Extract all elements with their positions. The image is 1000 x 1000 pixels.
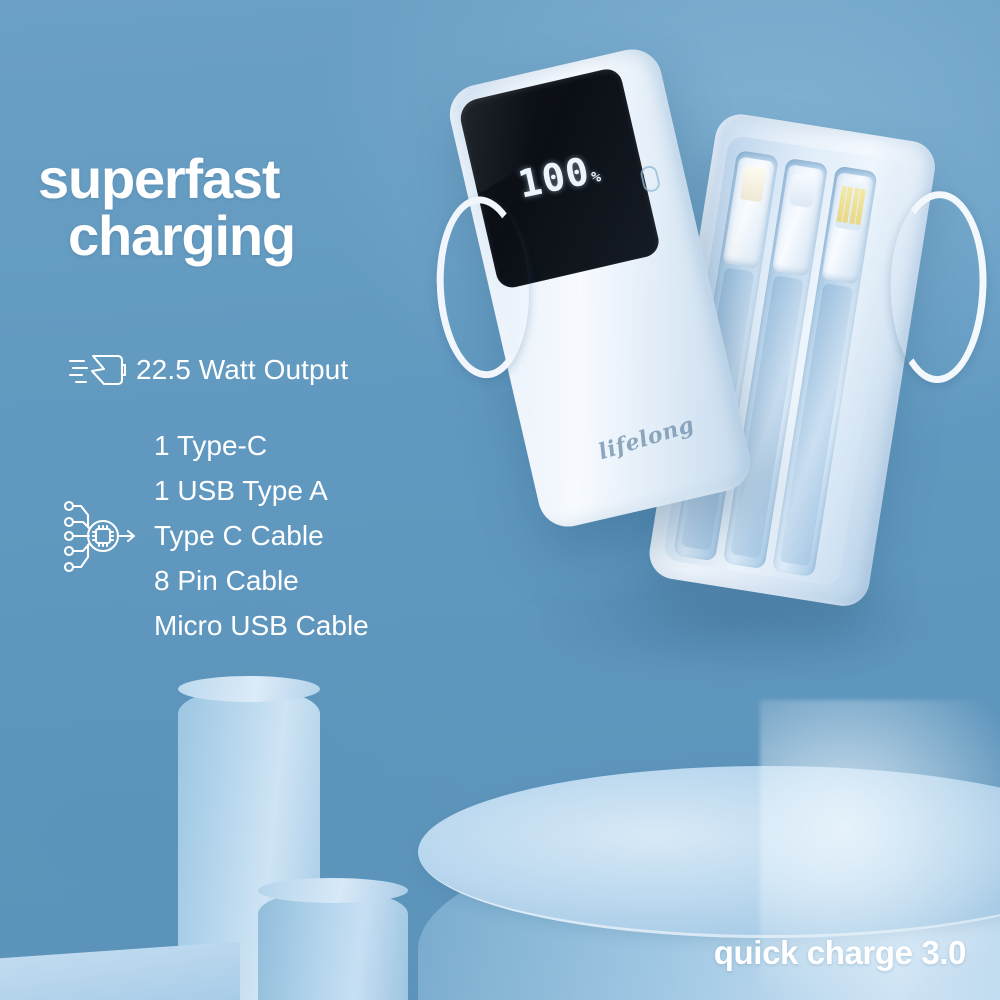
prop-tall-cylinder-top: [178, 676, 320, 702]
battery-percent-value: 100: [514, 149, 593, 207]
battery-readout: 100 %: [514, 147, 603, 207]
list-item: 8 Pin Cable: [154, 567, 369, 595]
lightning-connector-tip: [740, 165, 767, 202]
list-item: Type C Cable: [154, 522, 369, 550]
type-c-connector-tip: [789, 173, 818, 208]
list-item: Micro USB Cable: [154, 612, 369, 640]
feature-wattage-label: 22.5 Watt Output: [136, 356, 348, 384]
headline-line-2: charging: [68, 207, 295, 264]
chip-circuit-icon: [62, 497, 140, 575]
usb-a-contact-plate: [835, 180, 868, 231]
port-list: 1 Type-C 1 USB Type A Type C Cable 8 Pin…: [140, 432, 369, 640]
headline-line-1: superfast: [38, 147, 279, 210]
prop-short-cylinder-top: [258, 878, 408, 903]
type-c-connector: [772, 164, 824, 276]
list-item: 1 Type-C: [154, 432, 369, 460]
usb-a-connector: [821, 172, 873, 284]
product-banner: superfast charging 22.5 Watt Output: [0, 0, 1000, 1000]
lightning-connector: [723, 156, 775, 268]
list-item: 1 USB Type A: [154, 477, 369, 505]
fast-charge-battery-icon: [58, 348, 136, 392]
page-headline: superfast charging: [38, 150, 295, 264]
prop-short-cylinder: [258, 890, 408, 1000]
footer-tagline: quick charge 3.0: [714, 934, 966, 972]
feature-row-wattage: 22.5 Watt Output: [58, 348, 348, 392]
feature-row-ports: 1 Type-C 1 USB Type A Type C Cable 8 Pin…: [62, 432, 369, 640]
